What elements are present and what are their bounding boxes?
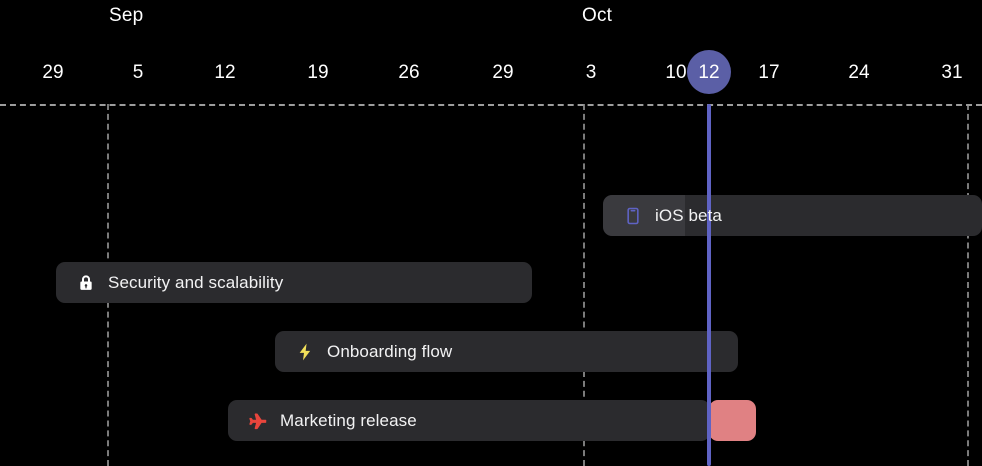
month-label: Sep — [109, 5, 143, 27]
task-label: Security and scalability — [108, 273, 283, 293]
task-bar-content: iOS beta — [603, 206, 722, 226]
day-label[interactable]: 24 — [848, 62, 869, 84]
day-label[interactable]: 5 — [133, 62, 144, 84]
day-label[interactable]: 12 — [214, 62, 235, 84]
day-label[interactable]: 10 — [665, 62, 686, 84]
day-label[interactable]: 3 — [586, 62, 597, 84]
task-bar-content: Onboarding flow — [275, 342, 452, 362]
task-bar-content: Security and scalability — [56, 273, 283, 293]
task-bar[interactable]: Marketing release — [228, 400, 710, 441]
bolt-icon — [295, 342, 315, 362]
day-label[interactable]: 19 — [307, 62, 328, 84]
today-marker-line[interactable] — [707, 104, 711, 466]
plane-icon — [248, 411, 268, 431]
day-label[interactable]: 29 — [42, 62, 63, 84]
lock-icon — [76, 273, 96, 293]
month-gridline — [967, 104, 969, 466]
gantt-timeline: SepOct2951219262931012172431 iOS betaSec… — [0, 0, 982, 466]
day-label-today[interactable]: 12 — [698, 62, 719, 84]
task-bar-content: Marketing release — [228, 411, 417, 431]
task-overdue-segment[interactable] — [709, 400, 756, 441]
header-divider — [0, 104, 982, 106]
month-label: Oct — [582, 5, 612, 27]
task-label: Marketing release — [280, 411, 417, 431]
task-bar[interactable]: Security and scalability — [56, 262, 532, 303]
day-label[interactable]: 29 — [492, 62, 513, 84]
task-bar[interactable]: Onboarding flow — [275, 331, 738, 372]
day-label[interactable]: 17 — [758, 62, 779, 84]
task-label: iOS beta — [655, 206, 722, 226]
task-label: Onboarding flow — [327, 342, 452, 362]
mobile-icon — [623, 206, 643, 226]
day-label[interactable]: 31 — [941, 62, 962, 84]
day-label[interactable]: 26 — [398, 62, 419, 84]
task-bar[interactable]: iOS beta — [603, 195, 982, 236]
